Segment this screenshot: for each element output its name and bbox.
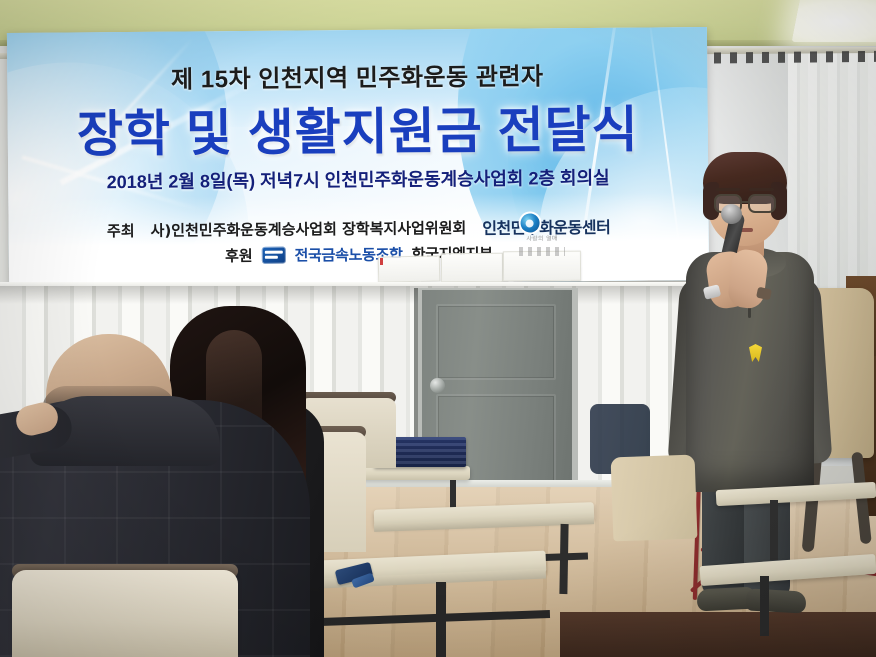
- speaker-shoe-right: [745, 588, 806, 613]
- banner-host-label: 주최: [107, 219, 135, 240]
- taped-paper: [441, 253, 503, 282]
- door-knob[interactable]: [430, 378, 445, 393]
- front-chair-back[interactable]: [12, 570, 238, 657]
- event-banner: 제 15차 인천지역 민주화운동 관련자 장학 및 생활지원금 전달식 2018…: [7, 27, 709, 286]
- center-logo-emblem-icon: [520, 213, 539, 232]
- taped-paper-writing: [519, 247, 565, 256]
- floor-dark-strip: [560, 612, 876, 657]
- right-table-leg: [770, 500, 778, 560]
- right-table-leg: [760, 576, 769, 636]
- photo-scene: 제 15차 인천지역 민주화운동 관련자 장학 및 생활지원금 전달식 2018…: [0, 0, 876, 657]
- speaker-glasses-bridge: [741, 201, 750, 203]
- banner-sponsor-label: 후원: [225, 245, 253, 266]
- center-logo: 인천민주화운동센터 사랑의 열매: [482, 214, 610, 239]
- banner-title: 장학 및 생활지원금 전달식: [7, 89, 708, 167]
- ceiling-light-panel: [792, 0, 876, 42]
- banner-host-name: 사)인천민주화운동계승사업회 장학복지사업위원회: [151, 217, 467, 241]
- door-panel-upper: [436, 304, 556, 380]
- speaker-glasses-right-lens: [748, 194, 776, 213]
- wall-panel-shadow: [0, 286, 700, 304]
- taped-paper: [378, 255, 441, 282]
- taped-paper-red-mark: [380, 258, 383, 265]
- center-logo-subtext: 사랑의 열매: [526, 233, 557, 242]
- speaker-eyebrow-right: [749, 188, 774, 191]
- speaker-eyebrow-left: [715, 188, 740, 191]
- background-chair[interactable]: [611, 455, 698, 542]
- metal-union-logo-icon: [262, 247, 286, 264]
